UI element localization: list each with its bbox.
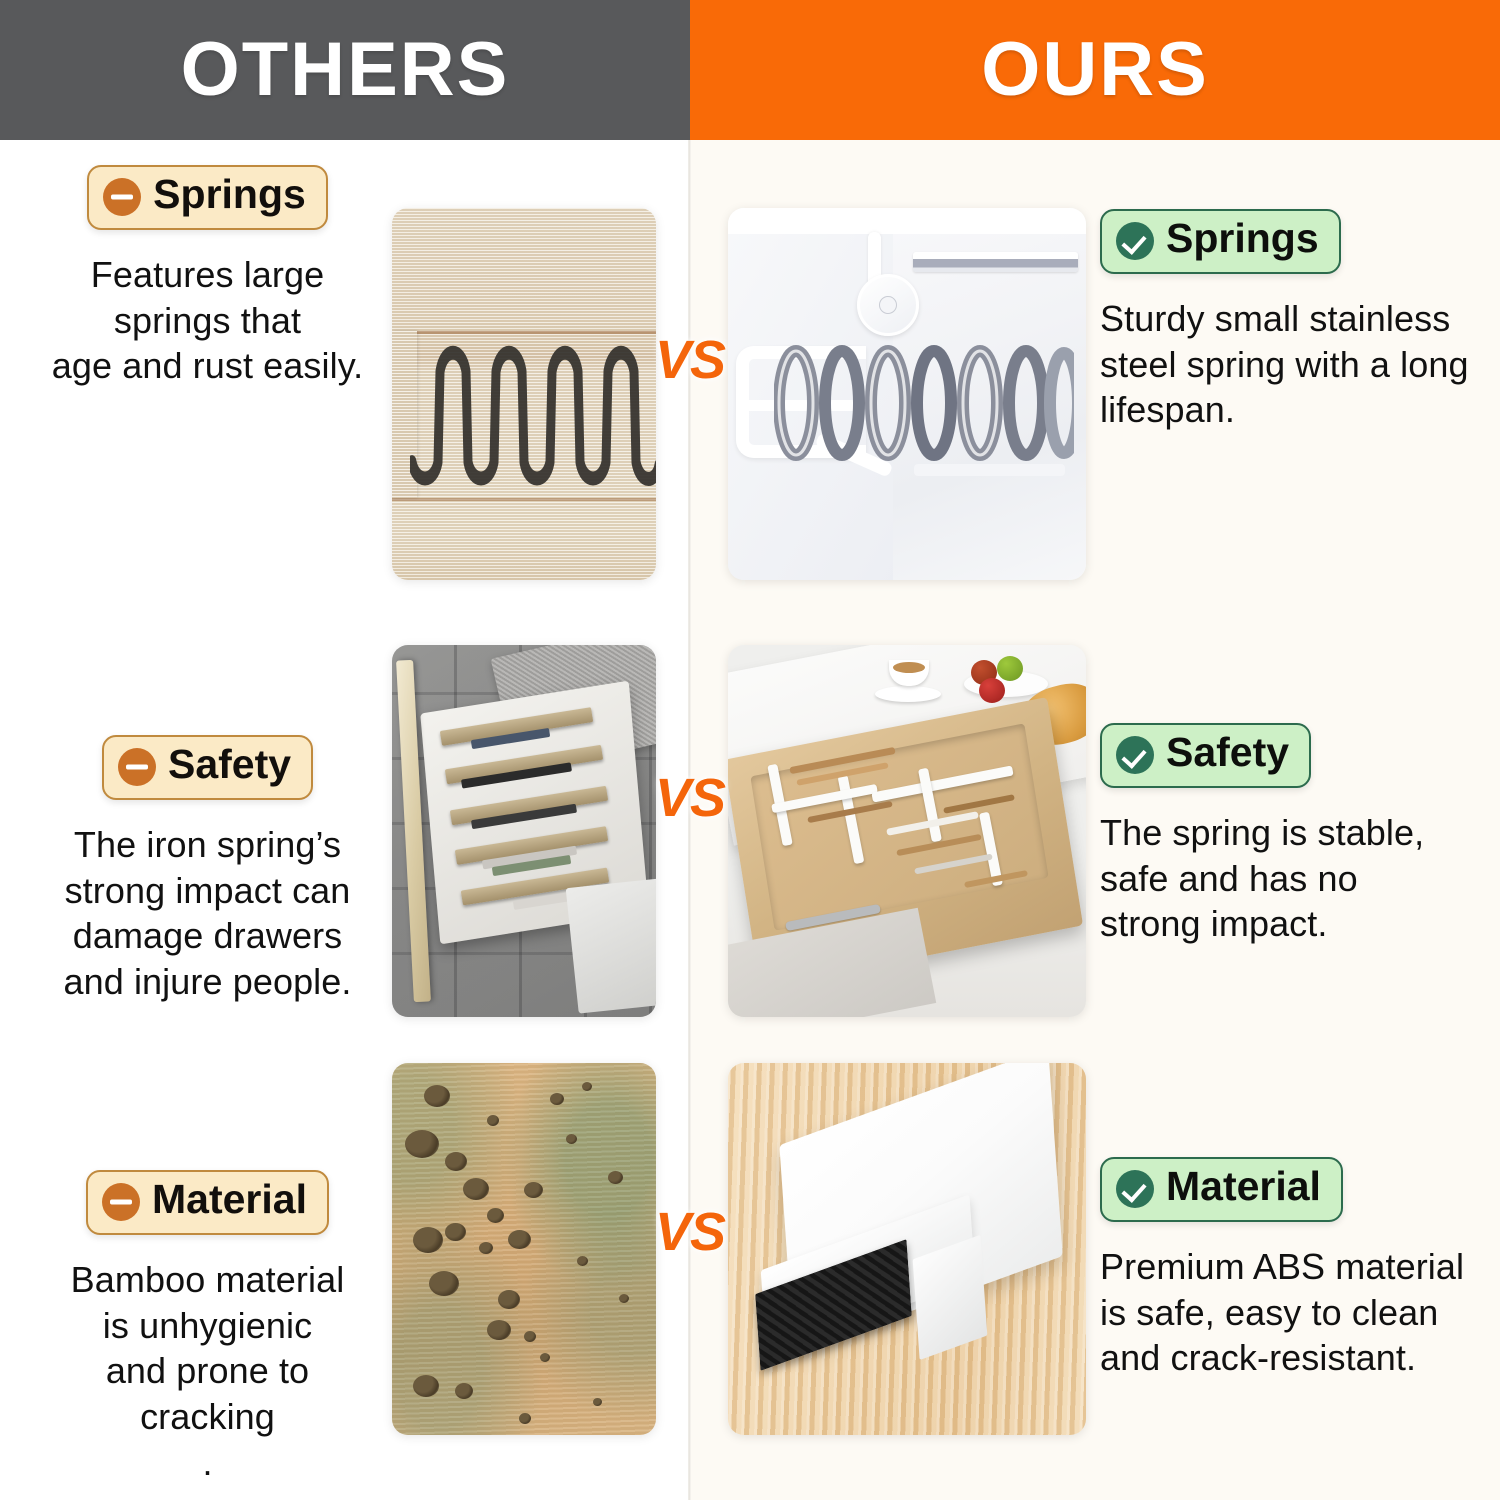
header-ours-title: OURS [981,32,1209,108]
safety-others-photo [392,645,656,1017]
comparison-row-springs: Springs Features largesprings thatage an… [0,165,1500,585]
springs-others-photo [392,208,656,580]
springs-others-badge-label: Springs [153,174,306,215]
springs-ours-badge: Springs [1100,209,1341,274]
minus-circle-icon [103,178,141,216]
vs-mark-material: VS [655,1205,725,1259]
coil-spring-icon [774,344,1074,462]
header-bar: OTHERS OURS [0,0,1500,140]
material-ours-description: Premium ABS materialis safe, easy to cle… [1100,1244,1485,1381]
safety-others-badge: Safety [102,735,313,800]
material-ours-badge: Material [1100,1157,1343,1222]
springs-ours-description: Sturdy small stainlesssteel spring with … [1100,296,1485,433]
material-others-text-block: Material Bamboo materialis unhygienicand… [35,1170,380,1486]
wave-spring-icon [410,334,656,490]
check-circle-icon [1116,222,1154,260]
safety-ours-badge: Safety [1100,723,1311,788]
check-circle-icon [1116,1170,1154,1208]
springs-ours-badge-label: Springs [1166,218,1319,259]
safety-others-text-block: Safety The iron spring’sstrong impact ca… [35,735,380,1005]
header-ours-half: OURS [690,0,1500,140]
safety-others-badge-label: Safety [168,744,291,785]
material-others-badge-label: Material [152,1179,307,1220]
material-others-badge: Material [86,1170,329,1235]
springs-others-badge: Springs [87,165,328,230]
springs-ours-photo [728,208,1086,580]
header-others-title: OTHERS [181,32,510,108]
safety-ours-badge-label: Safety [1166,732,1289,773]
comparison-row-safety: Safety The iron spring’sstrong impact ca… [0,605,1500,1025]
material-others-description: Bamboo materialis unhygienicand prone to… [35,1257,380,1486]
springs-others-description: Features largesprings thatage and rust e… [35,252,380,389]
material-ours-badge-label: Material [1166,1166,1321,1207]
safety-others-description: The iron spring’sstrong impact candamage… [35,822,380,1005]
vs-mark-springs: VS [655,333,725,387]
springs-ours-text-block: Springs Sturdy small stainlesssteel spri… [1100,209,1485,433]
check-circle-icon [1116,736,1154,774]
springs-others-text-block: Springs Features largesprings thatage an… [35,165,380,389]
minus-circle-icon [102,1183,140,1221]
material-others-photo [392,1063,656,1435]
comparison-row-material: Material Bamboo materialis unhygienicand… [0,1035,1500,1455]
minus-circle-icon [118,748,156,786]
safety-ours-description: The spring is stable,safe and has nostro… [1100,810,1485,947]
comparison-infographic: OTHERS OURS Springs Features largespring… [0,0,1500,1500]
vs-mark-safety: VS [655,771,725,825]
safety-ours-photo [728,645,1086,1017]
material-ours-photo [728,1063,1086,1435]
header-others-half: OTHERS [0,0,690,140]
safety-ours-text-block: Safety The spring is stable,safe and has… [1100,723,1485,947]
material-ours-text-block: Material Premium ABS materialis safe, ea… [1100,1157,1485,1381]
